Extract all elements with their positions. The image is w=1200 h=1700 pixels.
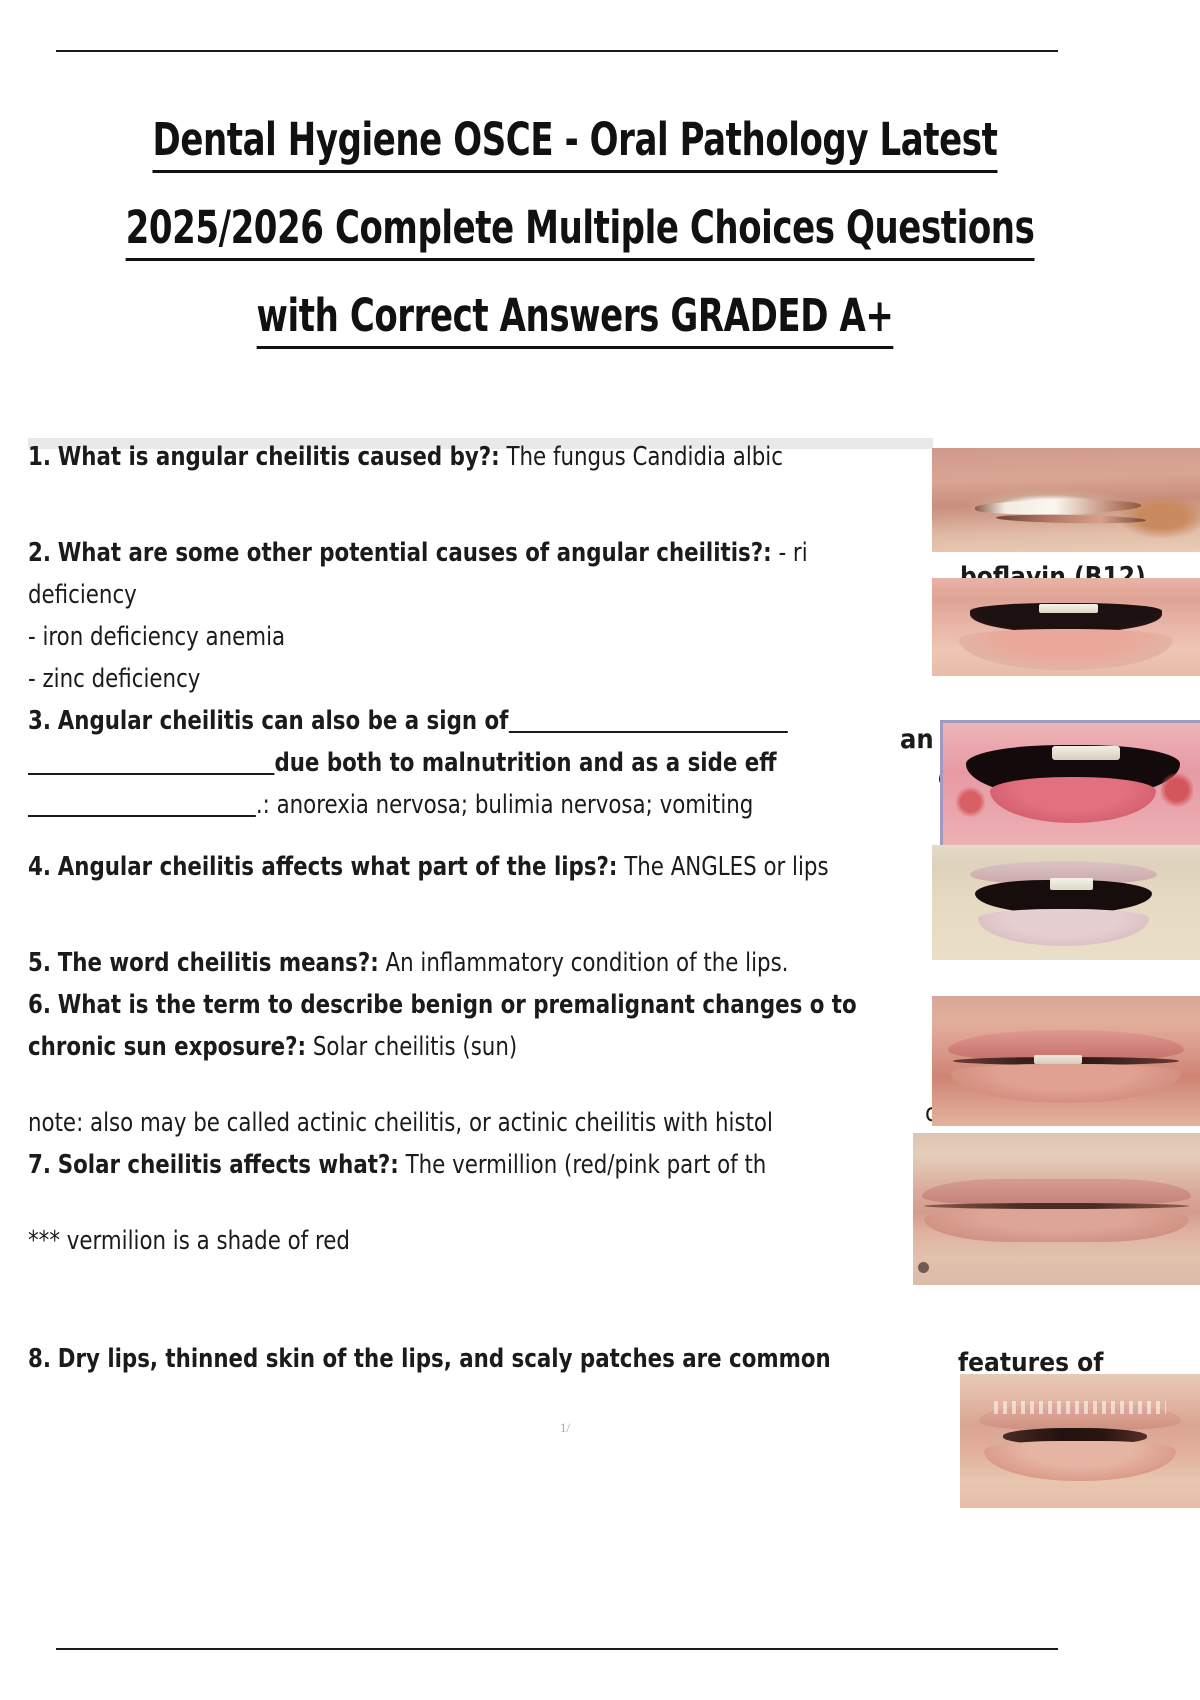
item-3-blank-2 — [28, 773, 274, 775]
item-2-question: What are some other potential causes of … — [58, 538, 772, 568]
item-2-answer: - ri — [778, 538, 807, 568]
footer-rule — [56, 1648, 1058, 1650]
figure-older-skin-solar-cheilitis-lips — [913, 1133, 1200, 1285]
item-6-number: 6. — [28, 990, 51, 1020]
item-5-question: The word cheilitis means?: — [58, 948, 379, 978]
item-3-question-part2: due both to malnutrition and as a side e… — [274, 748, 776, 778]
item-4-question: Angular cheilitis affects what part of t… — [58, 852, 618, 882]
document-page: Dental Hygiene OSCE - Oral Pathology Lat… — [0, 0, 1200, 1700]
item-7-question: Solar cheilitis affects what?: — [58, 1150, 399, 1180]
item-6-question-line-2: chronic sun exposure?: — [28, 1032, 306, 1062]
item-4-number: 4. — [28, 852, 51, 882]
item-7-answer: The vermillion (red/pink part of th — [406, 1150, 767, 1180]
item-5-number: 5. — [28, 948, 51, 978]
photo-teeth — [1039, 604, 1098, 613]
item-1-question: What is angular cheilitis caused by?: — [58, 442, 500, 472]
figure-pale-lips-parted — [932, 578, 1200, 676]
photo-lower-lip — [924, 1209, 1188, 1242]
item-6-answer: Solar cheilitis (sun) — [313, 1032, 517, 1062]
item-3-number: 3. — [28, 706, 51, 736]
figure-scaly-chapped-lips — [960, 1374, 1200, 1508]
figure-bordered-pink-lips-angular-sores — [940, 720, 1200, 848]
photo-upper-lip — [922, 1179, 1192, 1205]
item-1-answer: The fungus Candidia albic — [506, 442, 782, 472]
item-8-number: 8. — [28, 1344, 51, 1374]
item-7-number: 7. — [28, 1150, 51, 1180]
item-3-blank-1 — [508, 731, 787, 733]
title-line-1: Dental Hygiene OSCE - Oral Pathology Lat… — [153, 113, 998, 173]
photo-sore-left-commissure — [956, 786, 985, 818]
page-title: Dental Hygiene OSCE - Oral Pathology Lat… — [40, 96, 1110, 360]
item-3-question-part1: Angular cheilitis can also be a sign of — [58, 706, 509, 736]
figure-angular-cheilitis-corner-of-mouth — [932, 448, 1200, 552]
item-3-blank-3 — [28, 815, 256, 817]
figure-red-chapped-lips — [932, 996, 1200, 1126]
header-rule — [56, 50, 1058, 52]
photo-teeth — [1034, 1055, 1082, 1064]
qa-item-8: 8. Dry lips, thinned skin of the lips, a… — [28, 1338, 1098, 1380]
item-6-question-line-1: What is the term to describe benign or p… — [58, 990, 857, 1020]
photo-scaly-patches — [994, 1401, 1167, 1414]
item-2-number: 2. — [28, 538, 51, 568]
figure-pale-lips-open-mouth — [932, 845, 1200, 960]
title-line-3: with Correct Answers GRADED A+ — [257, 289, 894, 349]
item-3-answer: .: anorexia nervosa; bulimia nervosa; vo… — [256, 790, 753, 820]
photo-sore-right-commissure — [1161, 772, 1192, 809]
photo-teeth — [1050, 878, 1093, 890]
item-5-answer: An inflammatory condition of the lips. — [386, 948, 789, 978]
photo-teeth — [1052, 746, 1120, 759]
title-line-2: 2025/2026 Complete Multiple Choices Ques… — [126, 201, 1035, 261]
item-8-question: Dry lips, thinned skin of the lips, and … — [58, 1344, 831, 1374]
item-4-answer: The ANGLES or lips — [624, 852, 828, 882]
watermark-dot-icon — [918, 1262, 929, 1273]
item-1-number: 1. — [28, 442, 51, 472]
fragment-an: an — [900, 724, 944, 756]
